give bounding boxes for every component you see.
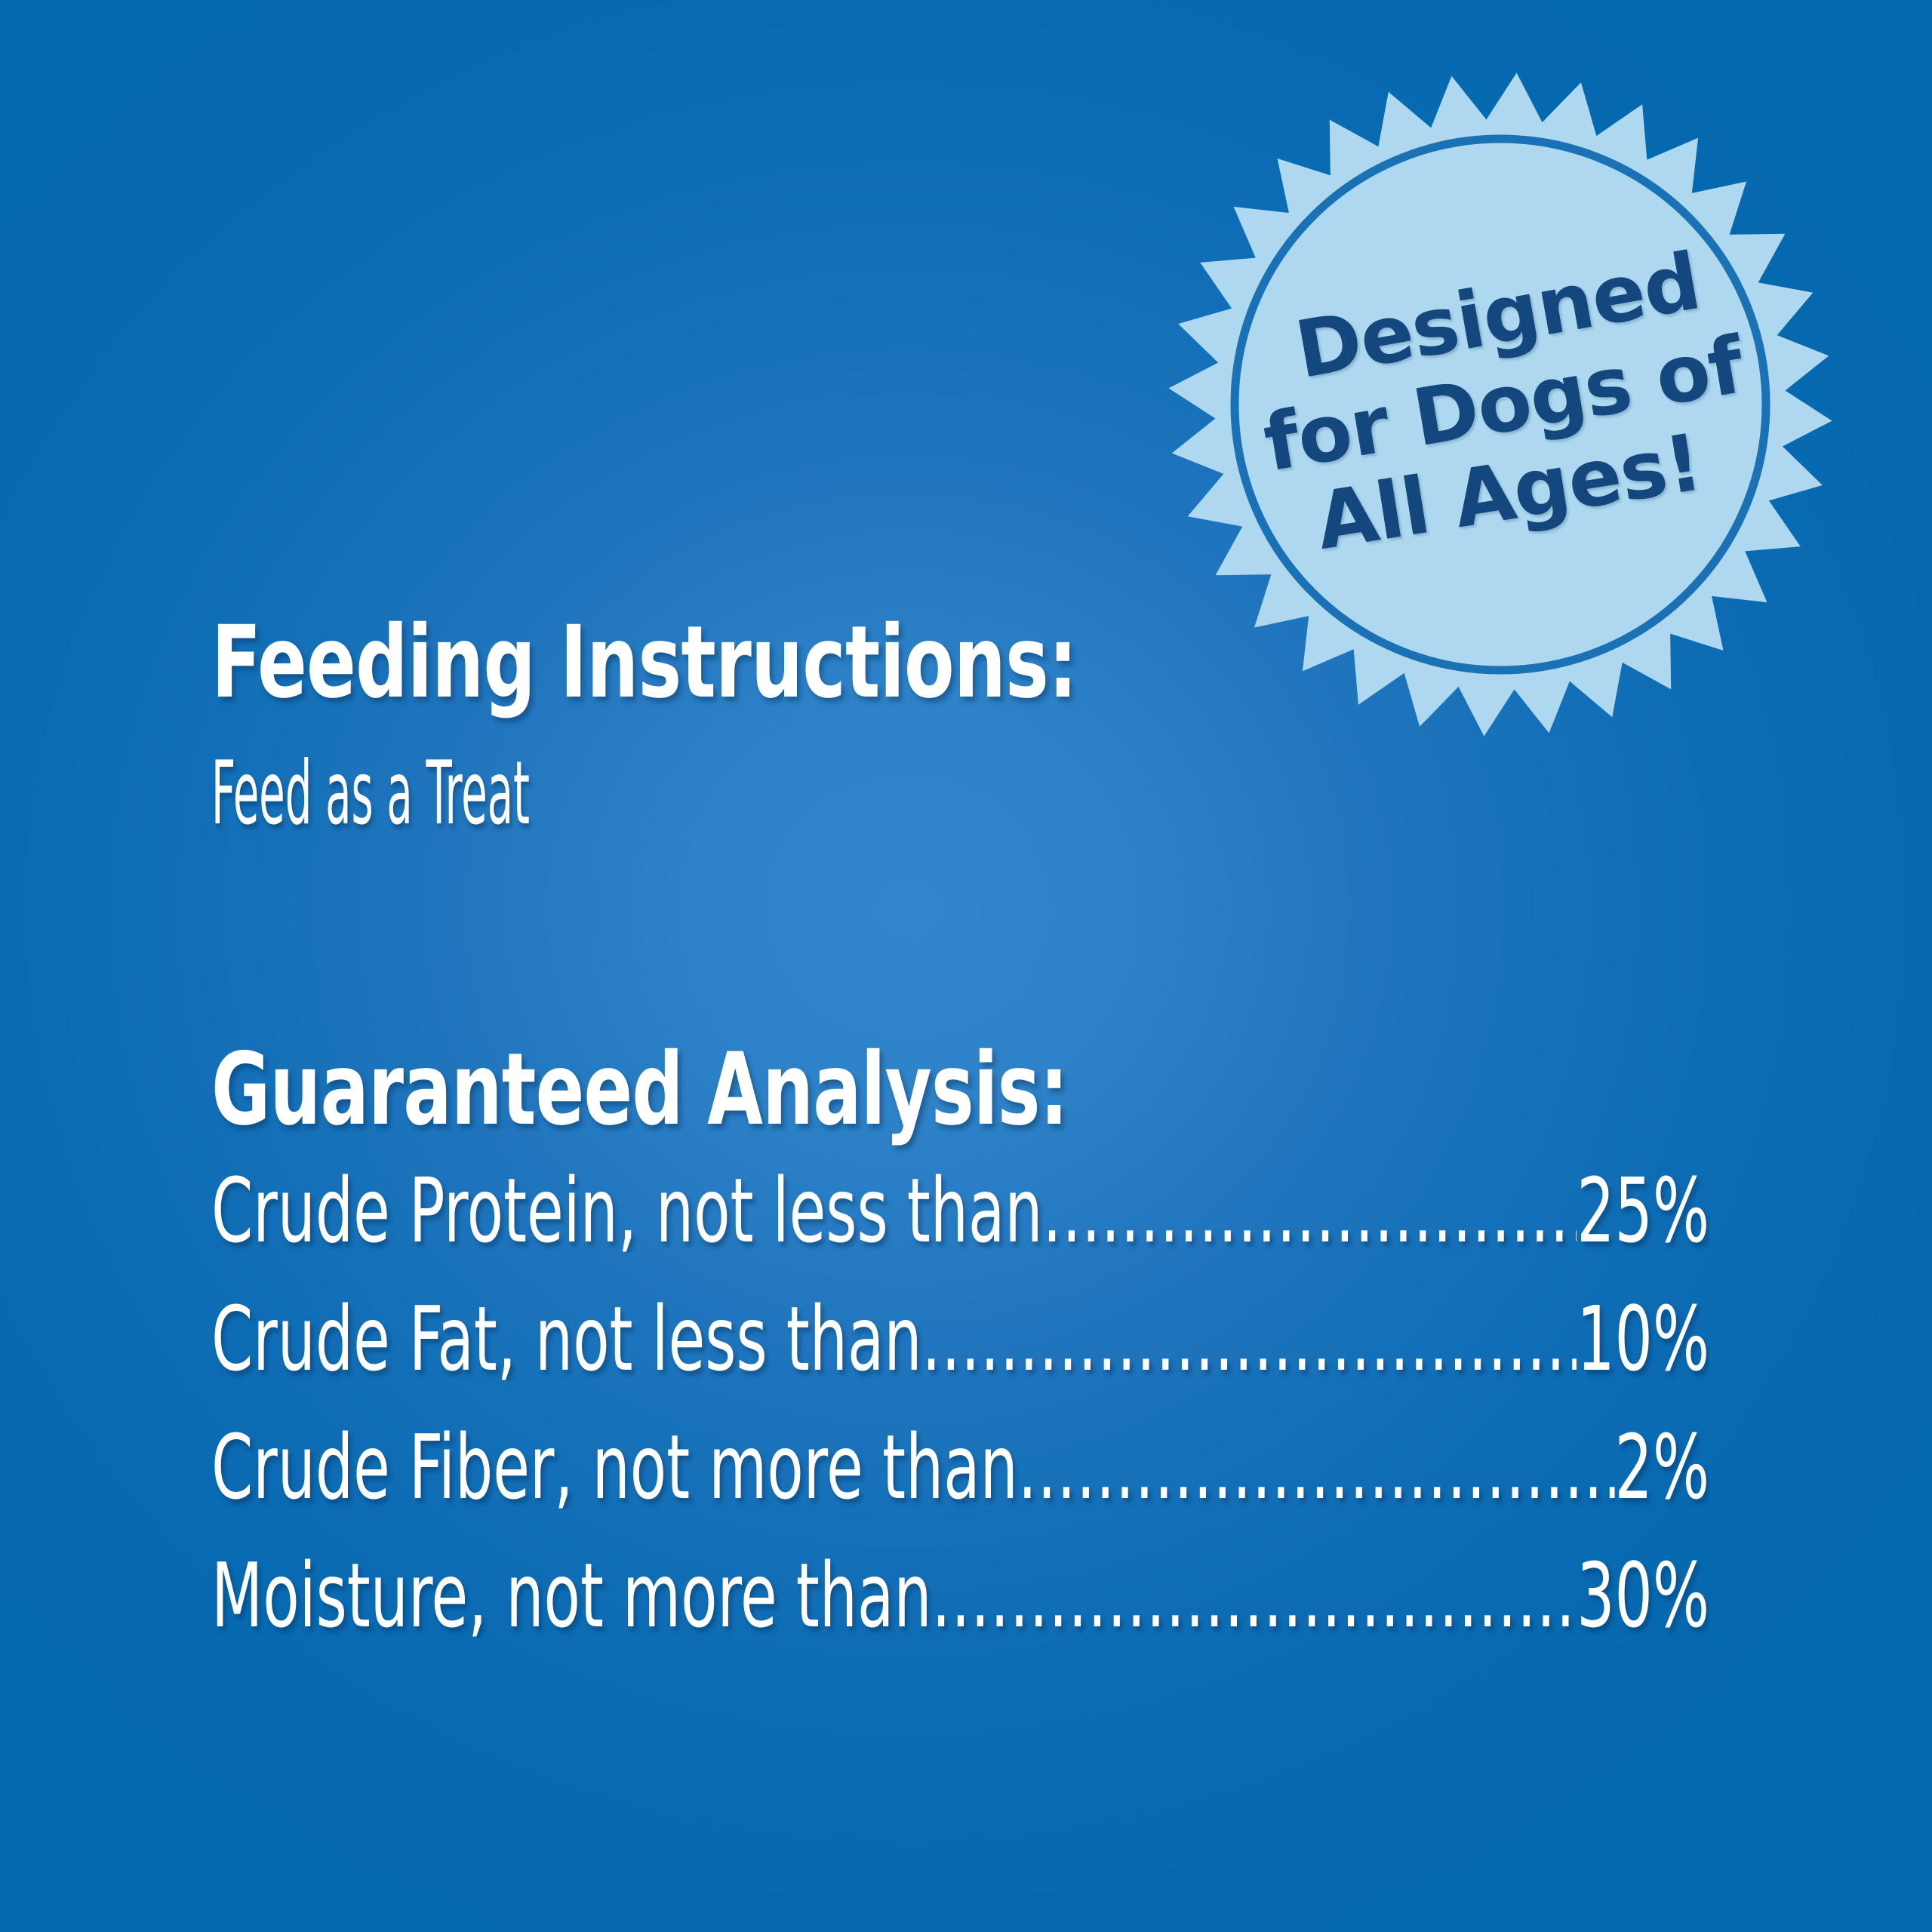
guaranteed-analysis-row: Crude Fat, not less than ...............… xyxy=(211,1297,1709,1381)
ga-row-value: 10% xyxy=(1577,1297,1709,1381)
guaranteed-analysis-row: Crude Protein, not less than ...........… xyxy=(211,1168,1709,1253)
guaranteed-analysis-row: Crude Fiber, not more than .............… xyxy=(211,1425,1709,1509)
ga-row-value: 2% xyxy=(1615,1425,1709,1509)
ga-row-label: Crude Fat, not less than xyxy=(211,1297,922,1381)
ga-row-leader: ........................................… xyxy=(1018,1425,1615,1509)
ga-row-leader: ........................................… xyxy=(922,1297,1577,1381)
ga-row-label: Moisture, not more than xyxy=(211,1553,932,1638)
ga-row-leader: ........................................… xyxy=(1042,1168,1577,1253)
ga-row-value: 25% xyxy=(1577,1168,1709,1253)
guaranteed-analysis-row: Moisture, not more than ................… xyxy=(211,1553,1709,1638)
ga-row-leader: ........................................… xyxy=(932,1553,1577,1638)
ga-row-value: 30% xyxy=(1577,1553,1709,1638)
ga-row-label: Crude Fiber, not more than xyxy=(211,1425,1018,1509)
pet-treat-label-panel: Designed for Dogs of All Ages! Feeding I… xyxy=(0,0,1932,1932)
guaranteed-analysis-table: Crude Protein, not less than ...........… xyxy=(211,1168,1709,1681)
label-text-content: Feeding Instructions: Feed as a Treat Gu… xyxy=(211,0,1721,1932)
feeding-instructions-note: Feed as a Treat xyxy=(211,750,530,838)
guaranteed-analysis-heading: Guaranteed Analysis: xyxy=(211,1040,1068,1140)
feeding-instructions-heading: Feeding Instructions: xyxy=(211,613,1077,712)
ga-row-label: Crude Protein, not less than xyxy=(211,1168,1042,1253)
